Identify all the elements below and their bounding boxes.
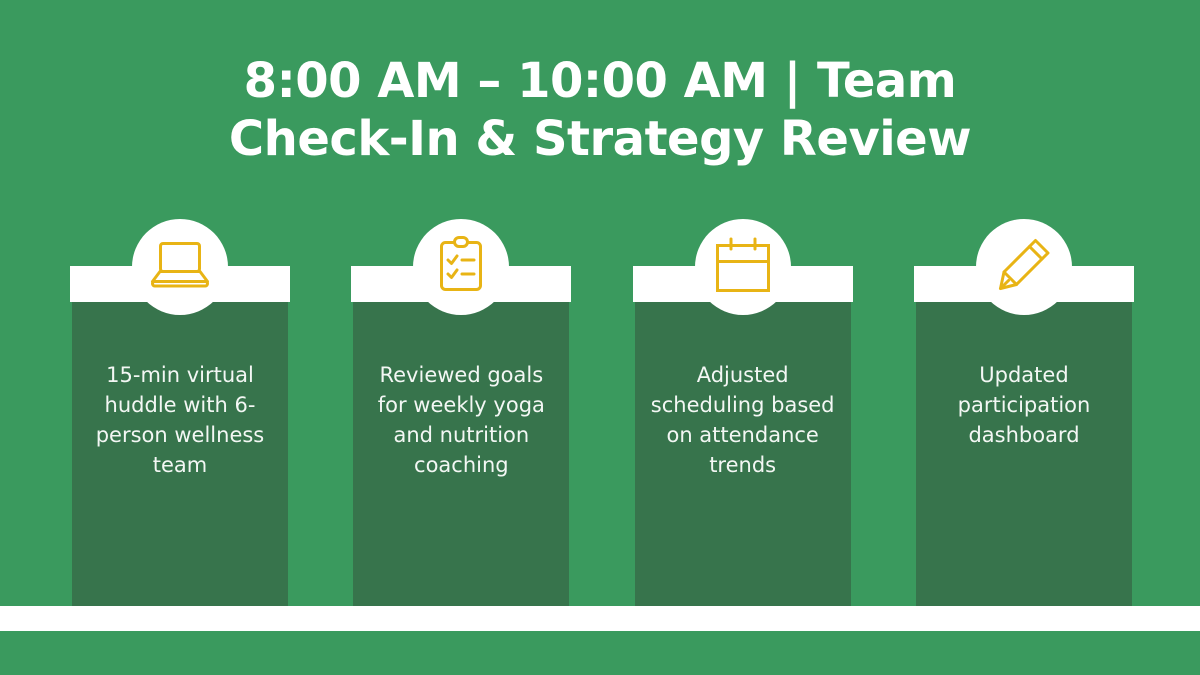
card-4-text: Updated participation dashboard (928, 360, 1120, 450)
card-4[interactable]: Updated participation dashboard (914, 266, 1134, 611)
card-3[interactable]: Adjusted scheduling based on attendance … (633, 266, 853, 611)
title-line-1: 8:00 AM – 10:00 AM | Team (0, 52, 1200, 110)
card-row: 15-min virtual huddle with 6-person well… (70, 266, 1134, 611)
title-line-2: Check-In & Strategy Review (0, 110, 1200, 168)
pencil-icon (976, 219, 1072, 315)
laptop-icon (132, 219, 228, 315)
card-2[interactable]: Reviewed goals for weekly yoga and nutri… (351, 266, 571, 611)
card-1[interactable]: 15-min virtual huddle with 6-person well… (70, 266, 290, 611)
card-1-text: 15-min virtual huddle with 6-person well… (84, 360, 276, 480)
clipboard-checklist-icon (413, 219, 509, 315)
calendar-icon (695, 219, 791, 315)
card-2-text: Reviewed goals for weekly yoga and nutri… (365, 360, 557, 480)
card-3-body: Adjusted scheduling based on attendance … (635, 302, 851, 611)
card-4-body: Updated participation dashboard (916, 302, 1132, 611)
bottom-white-band (0, 606, 1200, 631)
card-1-body: 15-min virtual huddle with 6-person well… (72, 302, 288, 611)
card-3-text: Adjusted scheduling based on attendance … (647, 360, 839, 480)
slide-canvas: 8:00 AM – 10:00 AM | Team Check-In & Str… (0, 0, 1200, 675)
page-title: 8:00 AM – 10:00 AM | Team Check-In & Str… (0, 52, 1200, 168)
card-2-body: Reviewed goals for weekly yoga and nutri… (353, 302, 569, 611)
bottom-green-band (0, 631, 1200, 675)
